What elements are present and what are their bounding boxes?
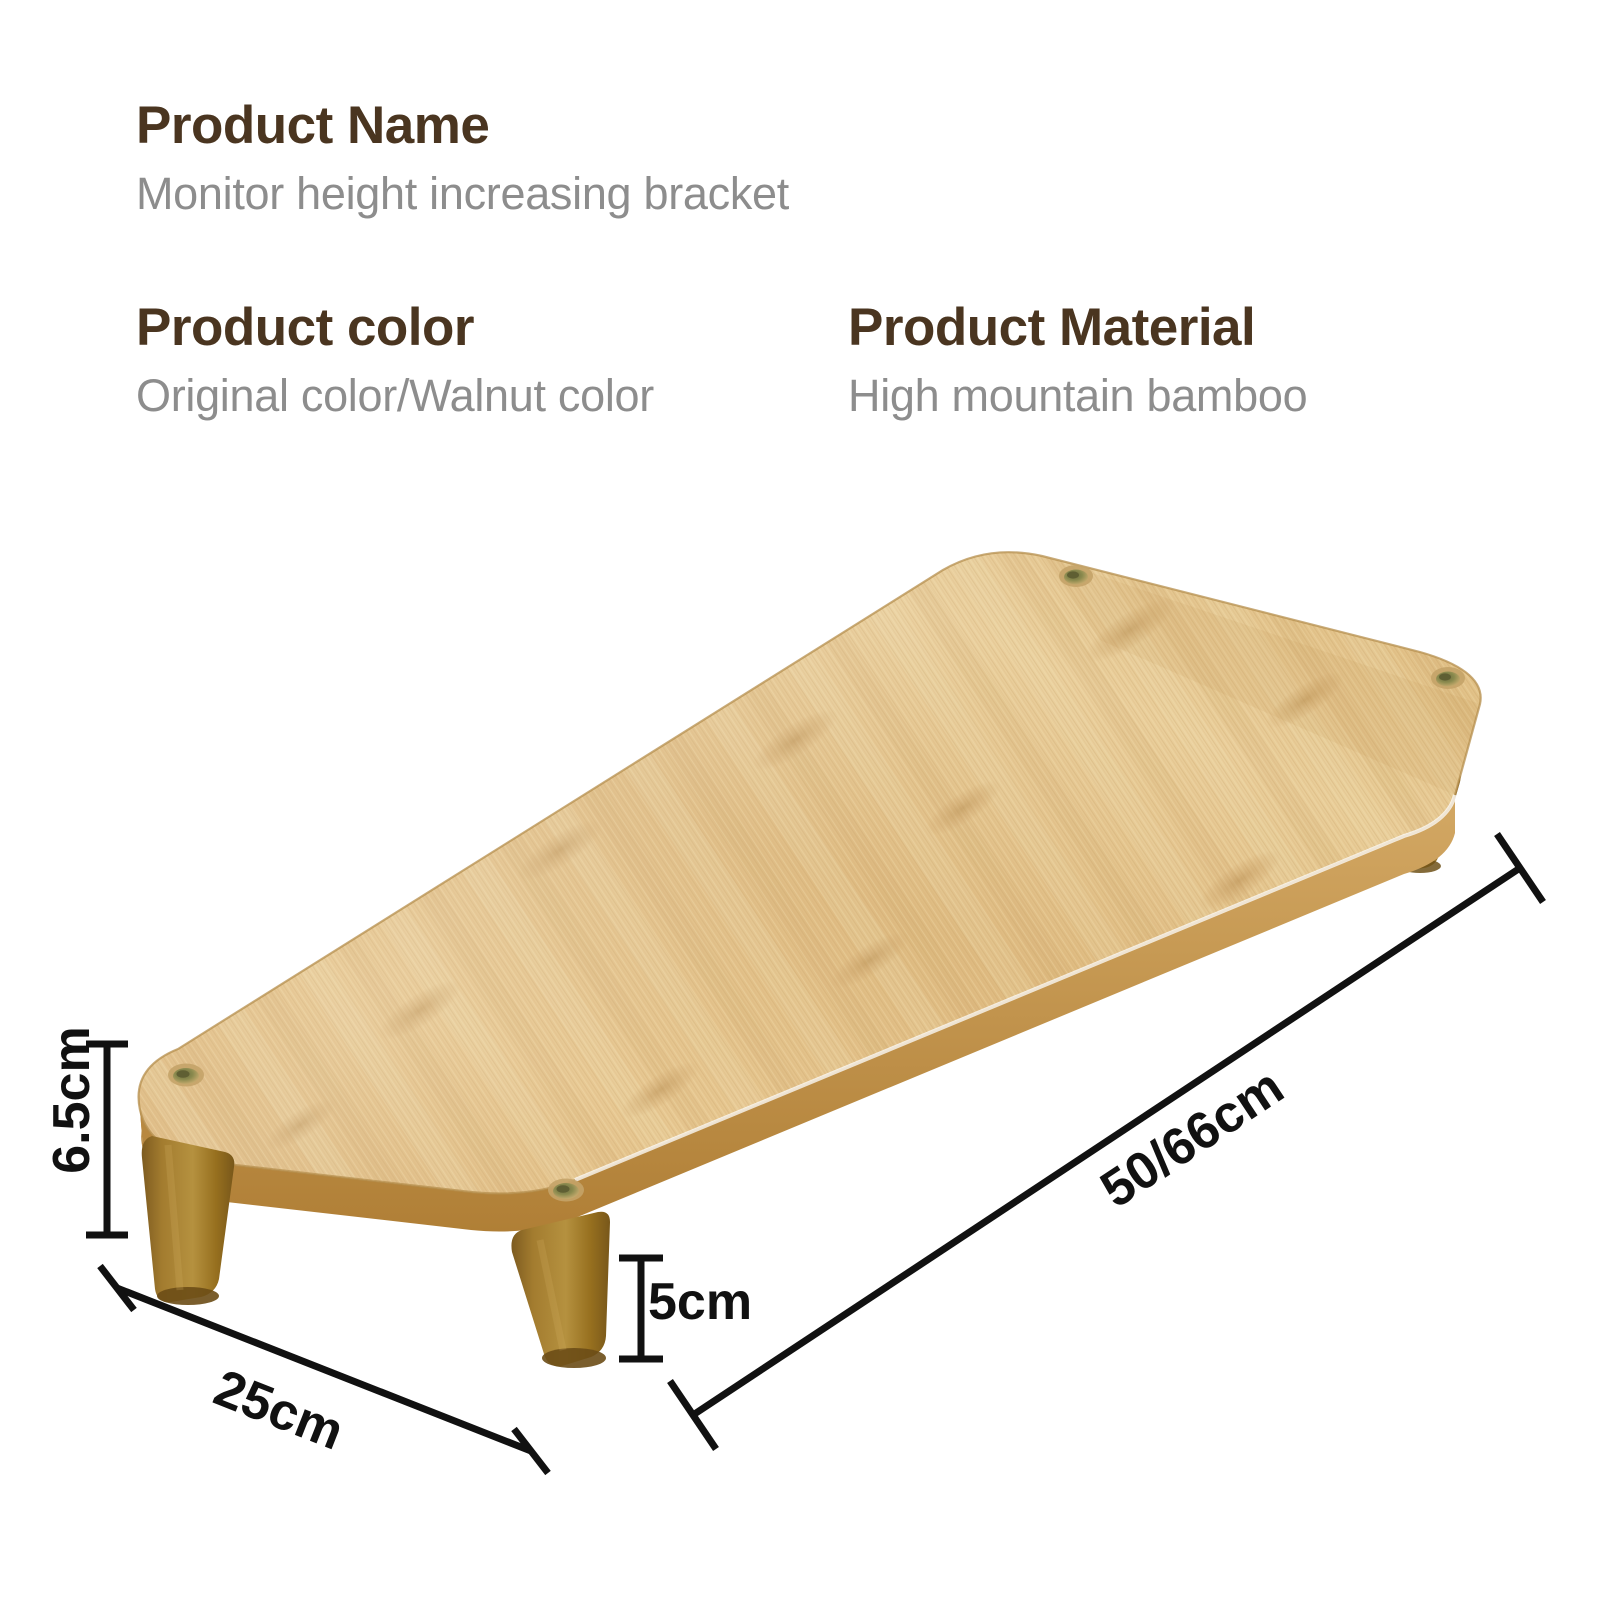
screw-hole-front-center: [548, 1179, 584, 1202]
screw-hole-front-left: [168, 1064, 204, 1087]
screw-hole-rear-center: [1059, 565, 1093, 587]
product-infographic: Product Name Monitor height increasing b…: [0, 0, 1600, 1600]
dimension-leg-height-label: 5cm: [648, 1272, 752, 1332]
leg-front-right: [511, 1212, 610, 1368]
screw-hole-rear-right: [1431, 667, 1465, 689]
product-illustration: [0, 0, 1600, 1600]
leg-front-left: [142, 1136, 235, 1305]
dimension-total-height-label: 6.5cm: [42, 1020, 102, 1180]
